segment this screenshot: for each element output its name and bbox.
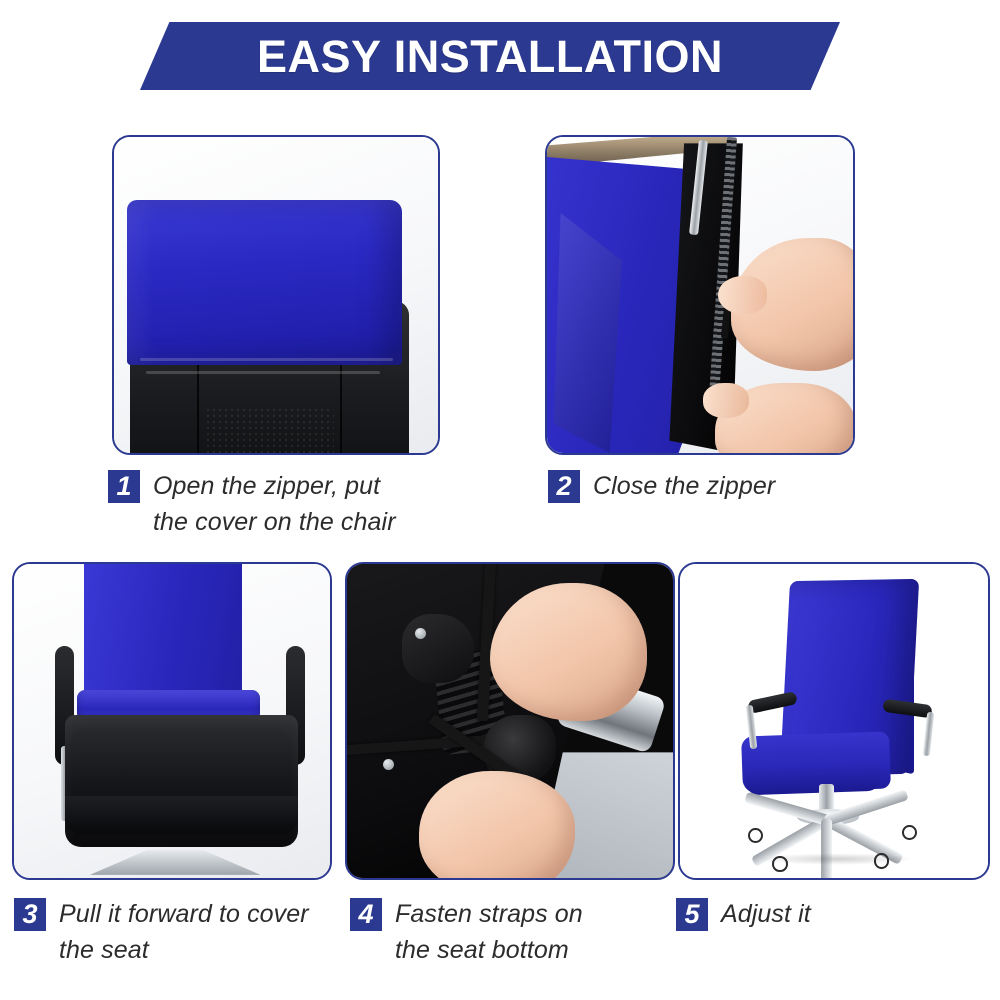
page-title: EASY INSTALLATION xyxy=(257,34,723,79)
base-leg xyxy=(821,819,832,878)
installation-instructions-page: EASY INSTALLATION xyxy=(0,0,1000,1000)
cover-elastic-hem xyxy=(124,336,406,387)
header-banner: EASY INSTALLATION xyxy=(140,22,840,90)
step-5-caption: 5 Adjust it xyxy=(676,896,986,932)
banner-shape: EASY INSTALLATION xyxy=(140,22,840,90)
step-2-photo xyxy=(547,137,853,453)
step-1-photo xyxy=(114,137,438,453)
step-3-photo xyxy=(14,564,330,878)
perforated-leather-texture xyxy=(205,407,333,453)
fabric-ruffle xyxy=(140,358,393,361)
step-3-number-badge: 3 xyxy=(14,898,46,931)
step-5-photo xyxy=(680,564,988,878)
step-4-photo xyxy=(347,564,673,878)
step-2-number-badge: 2 xyxy=(548,470,580,503)
fabric-ruffle xyxy=(146,371,379,374)
step-1-image-panel xyxy=(112,135,440,455)
finger-thumb xyxy=(718,276,767,314)
seat-front-edge xyxy=(744,763,880,796)
hand-upper xyxy=(490,583,646,721)
step-5-caption-text: Adjust it xyxy=(721,896,811,932)
step-1-number-badge: 1 xyxy=(108,470,140,503)
step-2-caption: 2 Close the zipper xyxy=(548,468,928,504)
fabric-fold xyxy=(554,213,622,453)
step-3-image-panel xyxy=(12,562,332,880)
step-3-caption: 3 Pull it forward to cover the seat xyxy=(14,896,344,969)
screw-head xyxy=(415,628,426,639)
finger-index xyxy=(703,383,749,418)
screw-head xyxy=(383,759,394,770)
step-2-image-panel xyxy=(545,135,855,455)
strap-anchor-clip xyxy=(402,614,474,683)
step-4-caption-text: Fasten straps on the seat bottom xyxy=(395,896,583,969)
step-5-image-panel xyxy=(678,562,990,880)
step-3-caption-text: Pull it forward to cover the seat xyxy=(59,896,309,969)
hand-lower xyxy=(419,771,575,878)
step-2-caption-text: Close the zipper xyxy=(593,468,775,504)
step-4-number-badge: 4 xyxy=(350,898,382,931)
step-1-caption-text: Open the zipper, put the cover on the ch… xyxy=(153,468,396,541)
step-1-caption: 1 Open the zipper, put the cover on the … xyxy=(108,468,478,541)
step-5-number-badge: 5 xyxy=(676,898,708,931)
seat-front-edge xyxy=(65,796,299,834)
step-4-image-panel xyxy=(345,562,675,880)
step-4-caption: 4 Fasten straps on the seat bottom xyxy=(350,896,670,969)
